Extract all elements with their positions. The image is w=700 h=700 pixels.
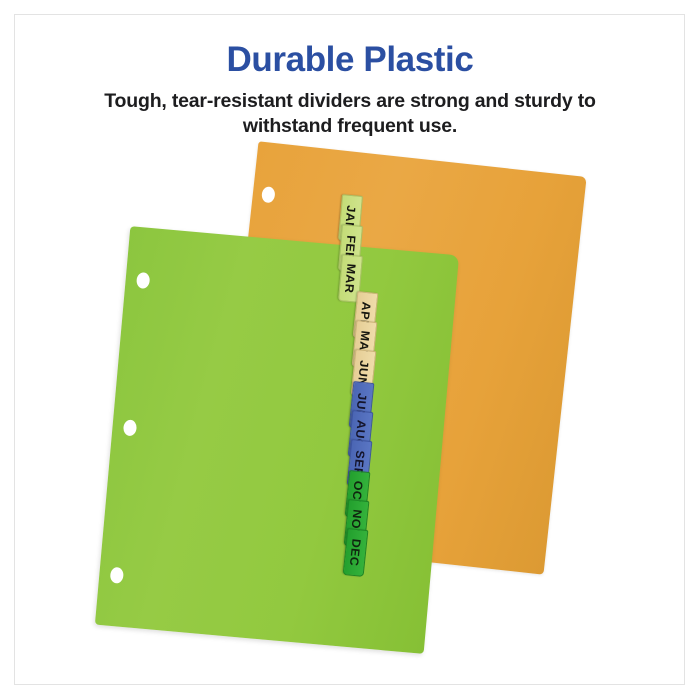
divider-tab-label: MAR — [343, 263, 359, 294]
divider-tab-label: DEC — [347, 538, 363, 567]
hole-punch — [261, 186, 276, 203]
hole-punch — [123, 419, 137, 436]
product-image-canvas: Durable Plastic Tough, tear-resistant di… — [0, 0, 700, 700]
product-photo: JAN FEB MAR APR MAY JUN JUL AUG SEP OC — [0, 150, 700, 690]
subtitle-text: Tough, tear-resistant dividers are stron… — [60, 89, 640, 140]
page-title: Durable Plastic — [0, 42, 700, 79]
hole-punch — [110, 567, 124, 584]
subtitle-line-1: Tough, tear-resistant dividers are stron… — [104, 90, 572, 112]
hole-punch — [136, 272, 150, 289]
marketing-text-block: Durable Plastic Tough, tear-resistant di… — [0, 42, 700, 140]
green-divider-sheet — [95, 226, 459, 654]
